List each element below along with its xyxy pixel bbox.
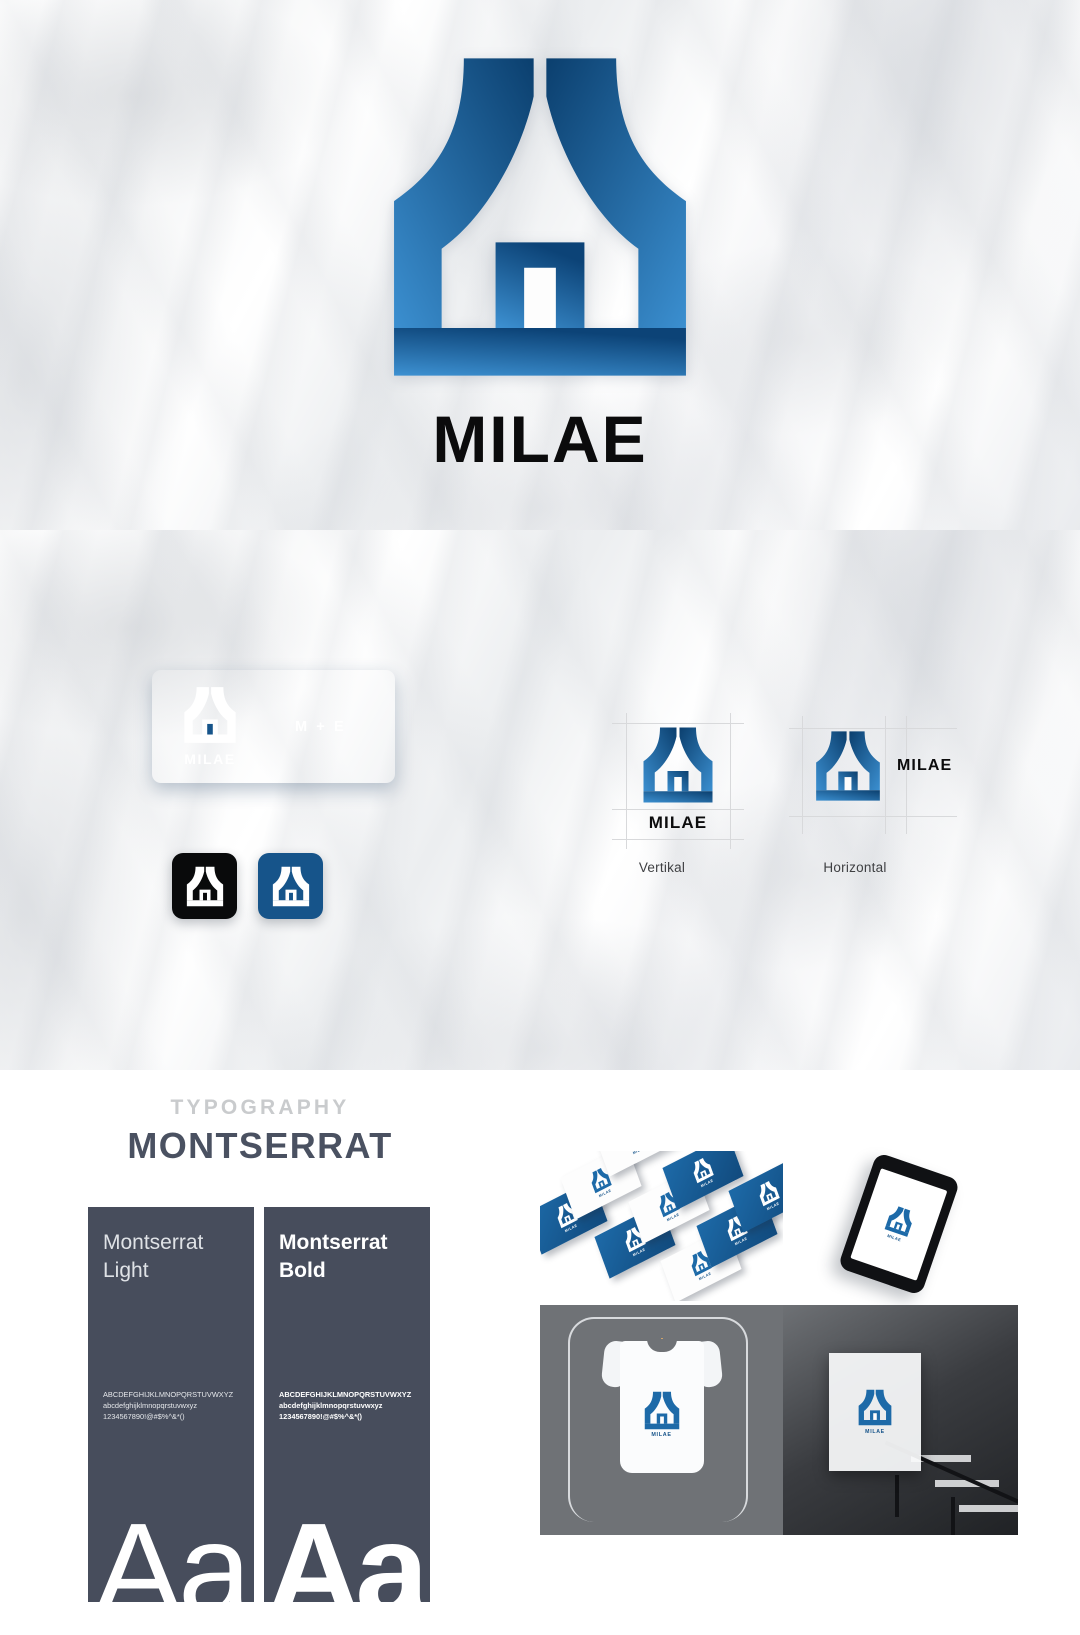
charset-uppercase-bold: ABCDEFGHIJKLMNOPQRSTUVWXYZ (279, 1389, 419, 1400)
brand-card[interactable]: MILAE M + E (152, 670, 395, 783)
poster-mockup: MILAE (783, 1305, 1018, 1535)
mini-wordmark-8: MILAE (632, 1151, 646, 1155)
specimen-name-light: Montserrat Light (103, 1229, 244, 1284)
specimen-card-light: Montserrat Light ABCDEFGHIJKLMNOPQRSTUVW… (88, 1207, 254, 1602)
typography-title: MONTSERRAT (0, 1125, 520, 1167)
lockup-horizontal-wordmark: MILAE (897, 757, 952, 775)
stair-railing-post-2 (951, 1497, 955, 1535)
poster-print: MILAE (829, 1353, 921, 1471)
app-icon-black[interactable] (172, 853, 237, 919)
business-card-field: MILAE MILAE MILAE MILAE MILAE MILAE MILA… (540, 1151, 783, 1301)
specimen-charset-bold: ABCDEFGHIJKLMNOPQRSTUVWXYZ abcdefghijklm… (279, 1389, 419, 1422)
milae-logo-mark-white-icon-2 (185, 866, 225, 907)
stair-step-3 (959, 1505, 1018, 1512)
charset-lowercase-light: abcdefghijklmnopqrstuvwxyz (103, 1400, 243, 1411)
tshirt-logo-print: MILAE (643, 1391, 681, 1438)
stair-railing-post-1 (895, 1475, 899, 1517)
specimen-name-bold: Montserrat Bold (279, 1229, 420, 1284)
lockup-vertical-caption: Vertikal (582, 860, 742, 875)
milae-logo-mark-icon (379, 52, 701, 382)
app-icon-row (172, 853, 323, 919)
milae-logo-mark-icon-vertical (632, 726, 724, 804)
tshirt-mockup: MILAE (540, 1305, 783, 1535)
hero-logo-lockup: MILAE (379, 52, 701, 472)
milae-logo-mark-icon-horizontal (808, 730, 888, 802)
charset-glyphs-light: 1234567890!@#$%^&*() (103, 1411, 243, 1422)
lockup-horizontal: MILAE (789, 716, 957, 834)
hero-section: MILAE (0, 0, 1080, 530)
typography-specimen-row: Montserrat Light ABCDEFGHIJKLMNOPQRSTUVW… (88, 1207, 430, 1602)
milae-mini-mark-icon-poster (857, 1389, 893, 1426)
tablet-device: MILAE (838, 1152, 961, 1296)
app-icon-navy[interactable] (258, 853, 323, 919)
charset-lowercase-bold: abcdefghijklmnopqrstuvwxyz (279, 1400, 419, 1411)
milae-mini-mark-icon-shirt (643, 1391, 681, 1430)
typography-eyebrow: TYPOGRAPHY (0, 1096, 520, 1120)
mockup-grid: MILAE MILAE MILAE MILAE MILAE MILAE MILA… (540, 1145, 1018, 1605)
card-logo-lockup: MILAE (182, 686, 238, 767)
business-cards-mockup: MILAE MILAE MILAE MILAE MILAE MILAE MILA… (540, 1145, 783, 1305)
lockup-horizontal-caption: Horizontal (775, 860, 935, 875)
typography-section: TYPOGRAPHY MONTSERRAT Montserrat Light A… (0, 1070, 1080, 1635)
tablet-screen: MILAE (850, 1168, 947, 1281)
charset-uppercase-light: ABCDEFGHIJKLMNOPQRSTUVWXYZ (103, 1389, 243, 1400)
milae-logo-mark-white-icon-3 (271, 866, 311, 907)
specimen-sample-light: Aa (94, 1504, 254, 1602)
lockup-vertical: MILAE (612, 713, 744, 849)
monogram-note: M + E (295, 719, 346, 735)
poster-wordmark: MILAE (865, 1429, 885, 1435)
tshirt-wordmark: MILAE (651, 1432, 671, 1438)
specimen-card-bold: Montserrat Bold ABCDEFGHIJKLMNOPQRSTUVWX… (264, 1207, 430, 1602)
tablet-mockup: MILAE (783, 1145, 1018, 1305)
applications-section: MILAE M + E (0, 530, 1080, 1070)
card-wordmark: MILAE (184, 751, 236, 767)
milae-logo-mark-white-icon (182, 686, 238, 744)
lockup-vertical-wordmark: MILAE (649, 813, 707, 833)
specimen-sample-bold: Aa (266, 1504, 430, 1602)
tshirt: MILAE (603, 1329, 721, 1479)
hero-wordmark: MILAE (432, 406, 647, 472)
specimen-charset-light: ABCDEFGHIJKLMNOPQRSTUVWXYZ abcdefghijklm… (103, 1389, 243, 1422)
charset-glyphs-bold: 1234567890!@#$%^&*() (279, 1411, 419, 1422)
